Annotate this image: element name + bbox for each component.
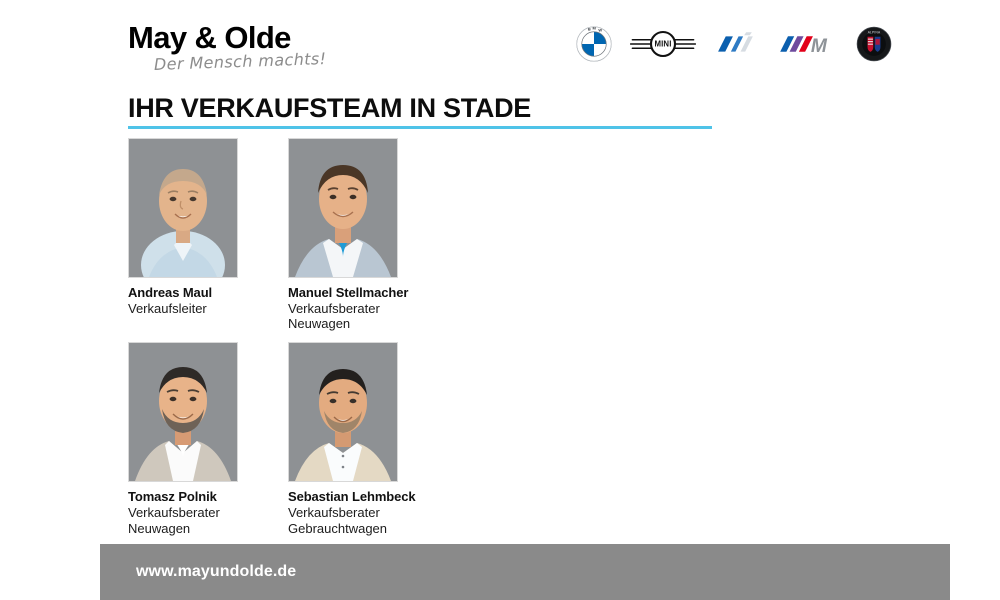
brand-logo-strip: B M W MINI — [576, 18, 892, 74]
member-name: Andreas Maul — [128, 285, 288, 301]
member-role-line1: Verkaufsberater — [288, 505, 448, 521]
dealer-tagline: Der Mensch machts! — [154, 50, 358, 73]
bmw-m-logo-icon: M — [778, 31, 838, 62]
team-grid: Andreas Maul Verkaufsleiter — [128, 138, 448, 537]
member-role-line2: Neuwagen — [288, 316, 448, 332]
member-role-line2: Gebrauchtwagen — [288, 521, 448, 537]
svg-text:W: W — [598, 27, 602, 32]
bmw-logo-icon: B M W — [576, 26, 612, 67]
team-member-card: Sebastian Lehmbeck Verkaufsberater Gebra… — [288, 342, 448, 536]
member-role-line2: Neuwagen — [128, 521, 288, 537]
member-role-line1: Verkaufsberater — [128, 505, 288, 521]
title-underline — [128, 126, 712, 129]
team-member-card: Tomasz Polnik Verkaufsberater Neuwagen — [128, 342, 288, 536]
footer-bar: www.mayundolde.de — [100, 544, 950, 600]
member-name: Sebastian Lehmbeck — [288, 489, 448, 505]
mini-logo-icon: MINI — [630, 29, 696, 64]
member-portrait — [288, 138, 398, 278]
svg-text:ALPINA: ALPINA — [868, 30, 881, 34]
member-name: Manuel Stellmacher — [288, 285, 448, 301]
team-member-card: Manuel Stellmacher Verkaufsberater Neuwa… — [288, 138, 448, 332]
svg-text:B: B — [588, 26, 591, 31]
member-role-line1: Verkaufsberater — [288, 301, 448, 317]
page-header: May & Olde Der Mensch machts! B M W — [0, 18, 1000, 80]
svg-text:MINI: MINI — [654, 39, 671, 48]
page-title: IHR VERKAUFSTEAM IN STADE — [128, 94, 712, 122]
title-block: IHR VERKAUFSTEAM IN STADE — [128, 94, 712, 129]
team-member-card: Andreas Maul Verkaufsleiter — [128, 138, 288, 332]
svg-text:M: M — [811, 35, 828, 56]
website-url[interactable]: www.mayundolde.de — [136, 563, 296, 581]
member-portrait — [288, 342, 398, 482]
bmw-i-logo-icon — [714, 31, 760, 62]
member-portrait — [128, 138, 238, 278]
member-role-line1: Verkaufsleiter — [128, 301, 288, 317]
member-name: Tomasz Polnik — [128, 489, 288, 505]
member-portrait — [128, 342, 238, 482]
dealer-logo: May & Olde Der Mensch machts! — [128, 22, 358, 73]
slide-root: May & Olde Der Mensch machts! B M W — [0, 0, 1000, 600]
alpina-logo-icon: ALPINA — [856, 26, 892, 67]
